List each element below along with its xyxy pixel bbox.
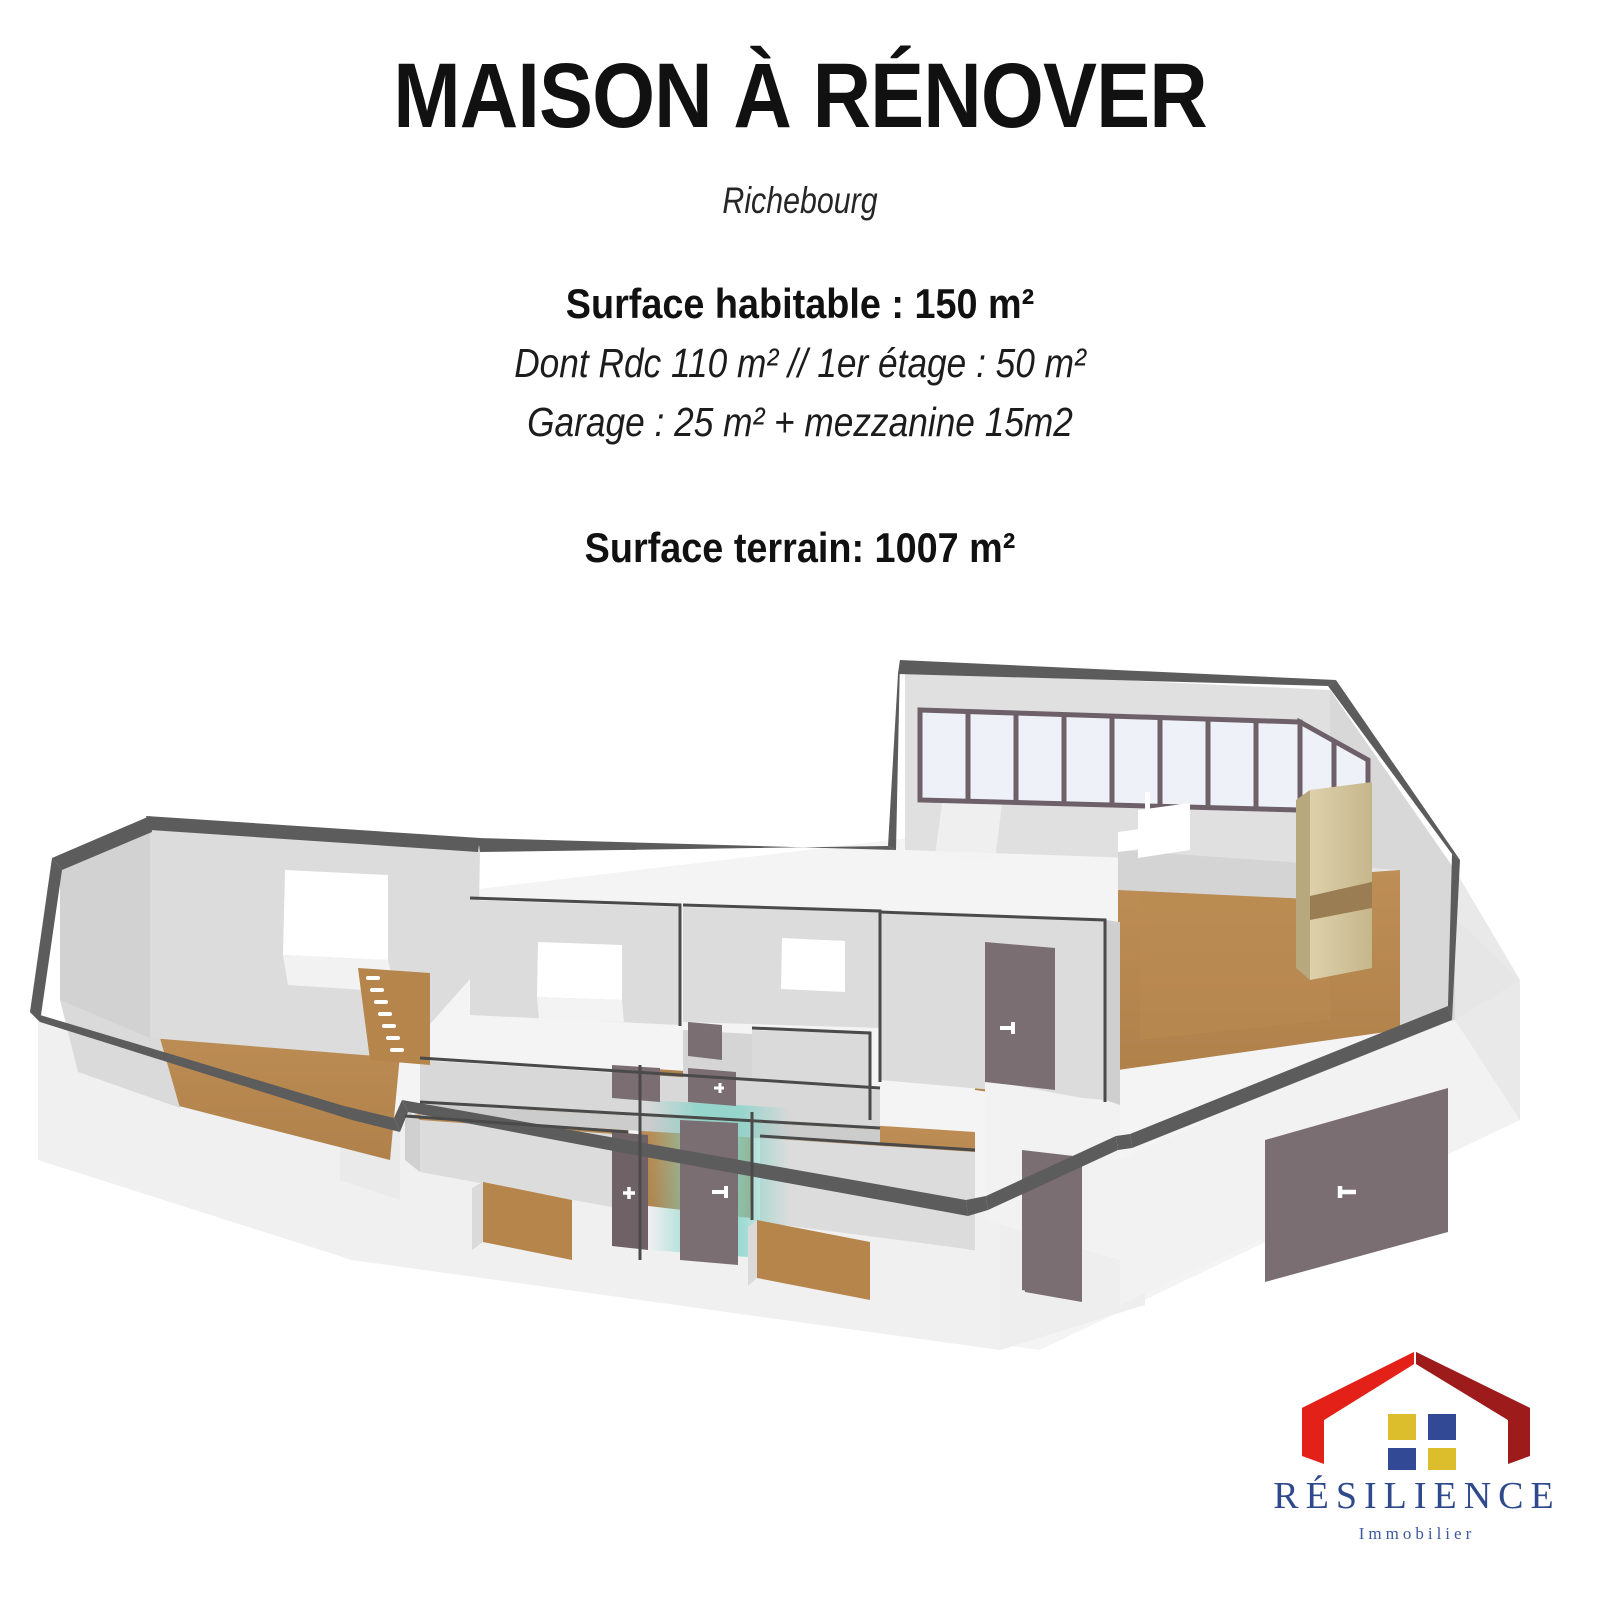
logo-square-yellow bbox=[1428, 1448, 1456, 1470]
surface-breakdown-line-1: Dont Rdc 110 m² // 1er étage : 50 m² bbox=[112, 340, 1488, 387]
page-title: MAISON À RÉNOVER bbox=[96, 50, 1504, 142]
door bbox=[688, 1068, 736, 1106]
listing-header: MAISON À RÉNOVER Richebourg Surface habi… bbox=[0, 0, 1600, 572]
logo-tagline: Immobilier bbox=[1262, 1524, 1572, 1544]
surface-habitable-line: Surface habitable : 150 m² bbox=[80, 280, 1520, 328]
staircase bbox=[358, 968, 430, 1065]
window-opening bbox=[537, 942, 622, 1000]
floorplan-svg bbox=[0, 560, 1600, 1350]
logo-company-name: RÉSILIENCE bbox=[1262, 1474, 1572, 1518]
surface-stats: Surface habitable : 150 m² Dont Rdc 110 … bbox=[0, 280, 1600, 572]
house-roof-icon bbox=[1302, 1352, 1532, 1470]
door bbox=[680, 1120, 738, 1265]
door bbox=[985, 942, 1055, 1090]
window-opening bbox=[781, 938, 845, 992]
logo-square-blue bbox=[1428, 1414, 1456, 1440]
floorplan-illustration bbox=[0, 560, 1600, 1350]
brick-fireplace bbox=[1296, 782, 1372, 980]
logo-square-blue bbox=[1388, 1448, 1416, 1470]
company-logo: RÉSILIENCE Immobilier bbox=[1262, 1352, 1572, 1567]
logo-square-yellow bbox=[1388, 1414, 1416, 1440]
location-subtitle: Richebourg bbox=[144, 180, 1456, 222]
door bbox=[688, 1022, 722, 1060]
surface-breakdown-line-2: Garage : 25 m² + mezzanine 15m2 bbox=[112, 399, 1488, 446]
window-opening bbox=[283, 870, 388, 960]
